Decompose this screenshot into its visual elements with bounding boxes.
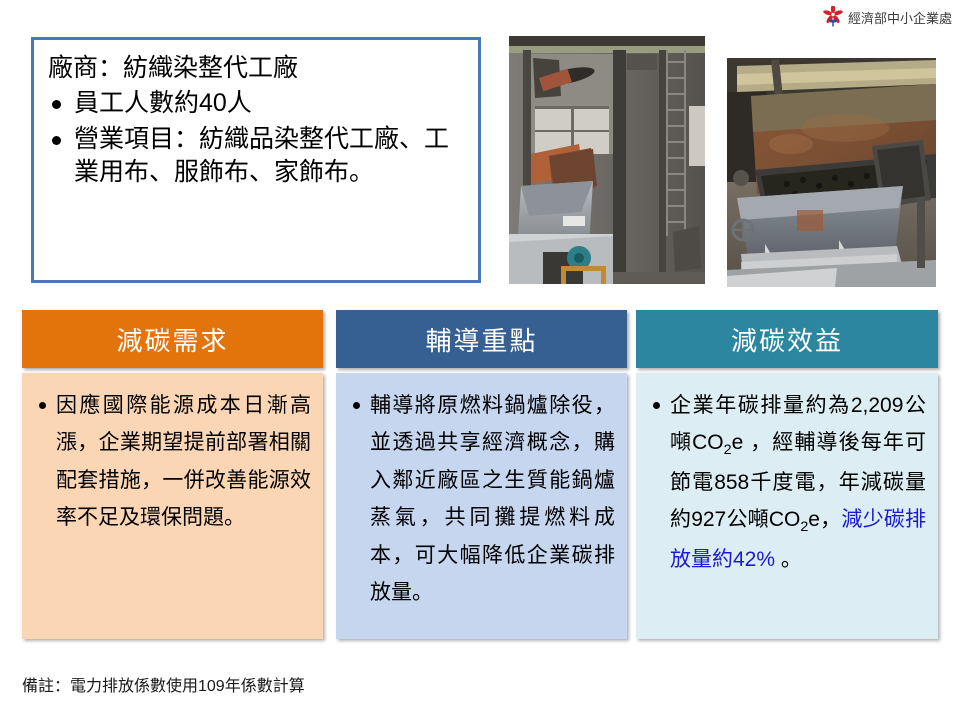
plum-blossom-emblem-icon <box>822 6 844 28</box>
column-demand: 減碳需求 因應國際能源成本日漸高漲，企業期望提前部署相關配套措施，一併改善能源效… <box>22 310 323 639</box>
list-item: 因應國際能源成本日漸高漲，企業期望提前部署相關配套措施，一併改善能源效率不足及環… <box>32 387 311 537</box>
column-benefit-title: 減碳效益 <box>731 321 843 358</box>
brand-logo-text: 經濟部中小企業處 <box>848 8 952 27</box>
footnote: 備註：電力排放係數使用109年係數計算 <box>22 672 305 696</box>
brand-logo: 經濟部中小企業處 <box>822 6 952 28</box>
column-demand-title: 減碳需求 <box>116 321 228 358</box>
column-demand-header: 減碳需求 <box>22 310 323 368</box>
boiler-hopper-photo <box>727 58 936 287</box>
column-guidance-list: 輔導將原燃料鍋爐除役，並透過共享經濟概念，購入鄰近廠區之生質能鍋爐蒸氣，共同攤提… <box>346 387 615 611</box>
column-guidance-title: 輔導重點 <box>425 321 537 358</box>
column-benefit-list: 企業年碳排量約為2,209公噸CO2e ，經輔導後每年可節電858千度電，年減碳… <box>646 387 926 578</box>
column-guidance-header: 輔導重點 <box>336 310 627 368</box>
company-info-list: 員工人數約40人 營業項目：紡織品染整代工廠、工業用布、服飾布、家飾布。 <box>48 87 468 190</box>
boiler-hall-photo <box>509 36 705 284</box>
benefit-sub-1: 2 <box>724 443 732 459</box>
column-benefit: 減碳效益 企業年碳排量約為2,209公噸CO2e ，經輔導後每年可節電858千度… <box>636 310 938 639</box>
column-benefit-body: 企業年碳排量約為2,209公噸CO2e ，經輔導後每年可節電858千度電，年減碳… <box>636 373 938 639</box>
list-item: 營業項目：紡織品染整代工廠、工業用布、服飾布、家飾布。 <box>48 123 468 190</box>
column-demand-body: 因應國際能源成本日漸高漲，企業期望提前部署相關配套措施，一併改善能源效率不足及環… <box>22 373 323 639</box>
column-guidance-body: 輔導將原燃料鍋爐除役，並透過共享經濟概念，購入鄰近廠區之生質能鍋爐蒸氣，共同攤提… <box>336 373 627 639</box>
benefit-text-end: 。 <box>775 548 802 571</box>
list-item: 企業年碳排量約為2,209公噸CO2e ，經輔導後每年可節電858千度電，年減碳… <box>646 387 926 578</box>
column-demand-list: 因應國際能源成本日漸高漲，企業期望提前部署相關配套措施，一併改善能源效率不足及環… <box>32 387 311 537</box>
column-guidance: 輔導重點 輔導將原燃料鍋爐除役，並透過共享經濟概念，購入鄰近廠區之生質能鍋爐蒸氣… <box>336 310 627 639</box>
company-name-line: 廠商：紡織染整代工廠 <box>48 52 468 85</box>
benefit-text-tail: e， <box>808 508 841 531</box>
list-item: 輔導將原燃料鍋爐除役，並透過共享經濟概念，購入鄰近廠區之生質能鍋爐蒸氣，共同攤提… <box>346 387 615 611</box>
company-info-box: 廠商：紡織染整代工廠 員工人數約40人 營業項目：紡織品染整代工廠、工業用布、服… <box>31 37 481 283</box>
list-item: 員工人數約40人 <box>48 87 468 121</box>
column-benefit-header: 減碳效益 <box>636 310 938 368</box>
